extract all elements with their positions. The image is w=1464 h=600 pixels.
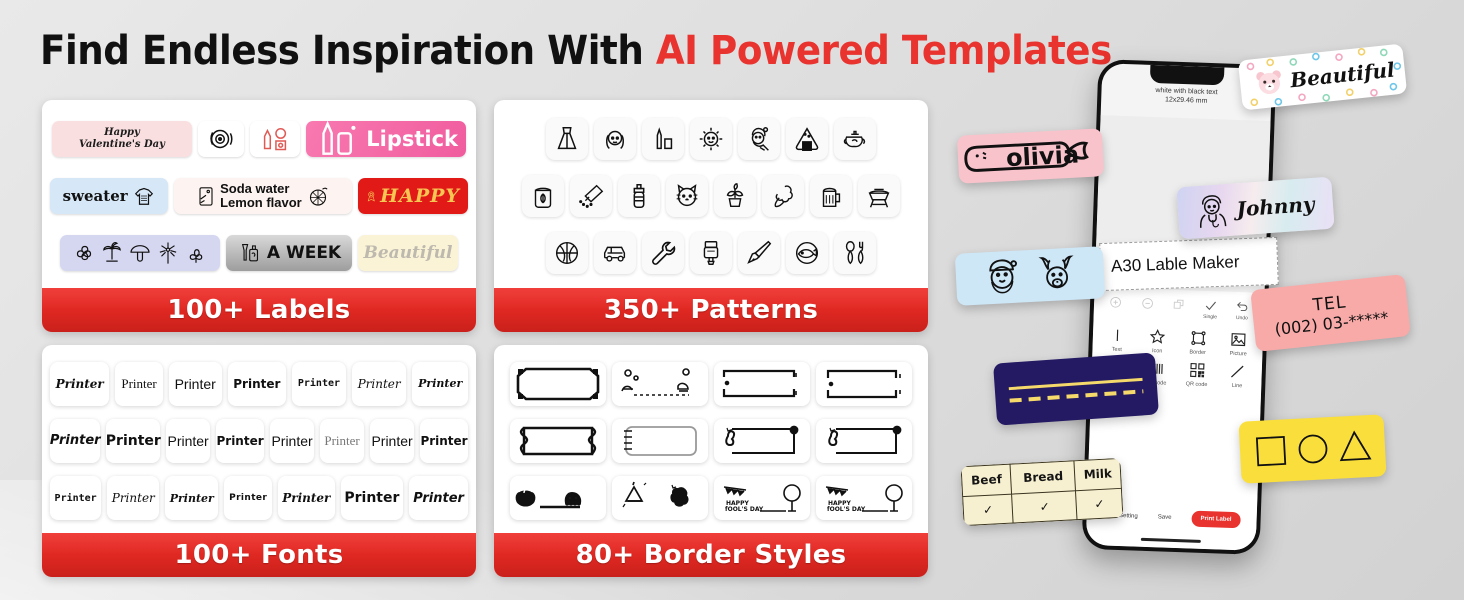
zoom-out-button[interactable]: [1140, 297, 1154, 312]
happy-label[interactable]: HAPPY: [358, 178, 468, 214]
sun-smile-icon[interactable]: [690, 118, 732, 160]
cosmetics-icon: [258, 124, 292, 154]
valentine-line1: Happy: [104, 127, 140, 139]
sticker-beautiful-text: Beautiful: [1289, 58, 1396, 93]
text-cursor-icon: [1108, 327, 1126, 345]
octagon-border[interactable]: [510, 362, 606, 406]
home-indicator: [1141, 538, 1201, 543]
clover-leaf-icon: [183, 240, 209, 266]
border-tool[interactable]: Border: [1177, 329, 1218, 356]
border-row-1: [502, 362, 920, 406]
soda-can-icon: [196, 184, 216, 208]
happy-fools-day-border[interactable]: HAPPYfOOL'S DAY: [714, 476, 810, 520]
zoom-out-icon: [1140, 297, 1153, 310]
line-tool[interactable]: Line: [1217, 362, 1258, 389]
dandelion-icon: [155, 240, 181, 266]
checklist-header-cell: Beef: [961, 464, 1012, 496]
border-row-3: HAPPYfOOL'S DAY HAPPYfOOL'S DAY: [502, 476, 920, 520]
card-borders[interactable]: HAPPYfOOL'S DAY HAPPYfOOL'S DAY 80+ Bord…: [494, 345, 928, 577]
vinyl-record-icon: [206, 124, 236, 154]
wrench-icon[interactable]: [642, 232, 684, 274]
santa-icon[interactable]: [738, 118, 780, 160]
qr-code-tool[interactable]: QR code: [1176, 361, 1217, 388]
star-icon: [1149, 328, 1167, 346]
salt-shaker-icon[interactable]: [570, 175, 612, 217]
sticker-tel[interactable]: TEL (002) 03-*****: [1250, 274, 1411, 352]
font-row-2: Printer Printer Printer Printer Printer …: [50, 419, 468, 463]
font-tile[interactable]: Printer: [106, 419, 160, 463]
sticker-navy-lines[interactable]: [993, 352, 1159, 425]
undo-icon: [1236, 300, 1249, 313]
valentine-line2: Valentine's Day: [79, 139, 165, 151]
checklist-mark-cell[interactable]: ✓: [1012, 490, 1077, 523]
rabbit-moon-border-2[interactable]: [816, 419, 912, 463]
card-labels-body: Happy Valentine's Day: [42, 100, 476, 288]
font-tile[interactable]: Printer: [409, 476, 468, 520]
sticker-christmas[interactable]: [955, 246, 1106, 306]
sweater-label[interactable]: sweater: [50, 178, 168, 214]
font-tile[interactable]: Printer: [370, 419, 414, 463]
font-tile[interactable]: Printer: [320, 419, 364, 463]
font-tile[interactable]: Printer: [50, 419, 100, 463]
lemon-icon: [306, 184, 330, 208]
valentine-label[interactable]: Happy Valentine's Day: [52, 121, 192, 157]
card-patterns[interactable]: 350+ Patterns: [494, 100, 928, 332]
border-row-2: [502, 419, 920, 463]
font-tile[interactable]: Printer: [278, 476, 335, 520]
font-row-1: Printer Printer Printer Printer Printer …: [50, 362, 468, 406]
paint-brush-icon[interactable]: [738, 232, 780, 274]
picture-tool[interactable]: Picture: [1218, 330, 1259, 357]
font-tile[interactable]: Printer: [169, 362, 222, 406]
halloween-border[interactable]: [510, 476, 606, 520]
rosette-icon: [366, 185, 377, 207]
save-button[interactable]: Save: [1158, 514, 1172, 520]
cat-face-icon[interactable]: [666, 175, 708, 217]
icon-tool[interactable]: Icon: [1137, 328, 1178, 355]
undo-button[interactable]: Undo: [1235, 300, 1249, 321]
font-tile[interactable]: Printer: [412, 362, 468, 406]
sticker-olivia-text: olivia: [1005, 140, 1079, 172]
line-tool-label: Line: [1232, 383, 1243, 389]
font-tile[interactable]: Printer: [270, 419, 314, 463]
beautiful-label[interactable]: Beautiful: [358, 235, 458, 271]
broccoli-icon[interactable]: [762, 175, 804, 217]
happy-label-text: HAPPY: [380, 185, 460, 207]
toothbrush-tube-icon: [237, 240, 261, 266]
a-week-label-text: A WEEK: [267, 243, 341, 263]
beer-mug-icon[interactable]: [810, 175, 852, 217]
card-borders-body: HAPPYfOOL'S DAY HAPPYfOOL'S DAY: [494, 345, 928, 533]
zoom-in-icon: [1109, 296, 1122, 309]
font-tile[interactable]: Printer: [50, 476, 101, 520]
lipstick-icon: [314, 121, 360, 157]
girl-face-icon[interactable]: [594, 118, 636, 160]
basketball-icon[interactable]: [546, 232, 588, 274]
card-fonts-banner: 100+ Fonts: [42, 533, 476, 577]
label-row-3: A WEEK Beautiful: [50, 235, 468, 271]
font-tile[interactable]: Printer: [166, 419, 210, 463]
picture-icon: [1230, 331, 1248, 349]
sticker-beautiful[interactable]: Beautiful: [1238, 44, 1407, 111]
party-hat-border[interactable]: [612, 476, 708, 520]
text-tool-label: Text: [1112, 347, 1122, 353]
circle-icon: [1294, 430, 1332, 468]
font-tile[interactable]: Printer: [420, 419, 468, 463]
mushroom-icon: [127, 240, 153, 266]
cosmetics-label[interactable]: [250, 121, 300, 157]
rotate-button[interactable]: [1172, 298, 1186, 313]
picture-tool-label: Picture: [1229, 351, 1246, 358]
sweater-label-text: sweater: [63, 187, 128, 205]
palm-tree-icon: [99, 240, 125, 266]
triangle-icon: [1336, 428, 1374, 466]
soda-water-label[interactable]: Soda water Lemon flavor: [174, 178, 351, 214]
font-tile[interactable]: Printer: [341, 476, 404, 520]
usb-plug-icon[interactable]: [690, 232, 732, 274]
phone-notch: [1150, 65, 1225, 86]
sticker-shapes[interactable]: [1238, 414, 1386, 484]
card-fonts[interactable]: Printer Printer Printer Printer Printer …: [42, 345, 476, 577]
square-icon: [1252, 432, 1290, 470]
print-label-button[interactable]: Print Label: [1191, 511, 1241, 529]
card-labels[interactable]: Happy Valentine's Day: [42, 100, 476, 332]
lipstick-label-text: Lipstick: [366, 127, 458, 151]
bubble-bath-border[interactable]: [612, 362, 708, 406]
bbq-grill-icon[interactable]: [858, 175, 900, 217]
soda-line2: Lemon flavor: [220, 196, 302, 210]
dashed-lines-graphic: [993, 352, 1159, 425]
a-week-label[interactable]: A WEEK: [226, 235, 352, 271]
qr-code-tool-label: QR code: [1186, 381, 1208, 388]
font-tile[interactable]: Printer: [224, 476, 272, 520]
reindeer-face-icon: [1036, 253, 1078, 297]
sticker-johnny[interactable]: Johnny: [1176, 177, 1334, 240]
tea-bag-icon[interactable]: [522, 175, 564, 217]
wavy-border[interactable]: [510, 419, 606, 463]
icon-tool-label: Icon: [1152, 348, 1163, 354]
sticker-checklist[interactable]: Beef Bread Milk ✓ ✓ ✓: [961, 458, 1124, 526]
rabbit-moon-border[interactable]: [714, 419, 810, 463]
svg-text:fOOL'S DAY: fOOL'S DAY: [725, 506, 764, 513]
check-icon: [1204, 299, 1217, 312]
spiral-notebook-border[interactable]: [612, 419, 708, 463]
four-leaf-clover-icon: [71, 240, 97, 266]
vinyl-record-label[interactable]: [198, 121, 244, 157]
sweater-icon: [132, 184, 156, 208]
card-patterns-body: [494, 100, 928, 288]
onigiri-icon[interactable]: [786, 118, 828, 160]
font-tile[interactable]: Printer: [115, 362, 162, 406]
label-text-edit-box[interactable]: A30 Lable Maker: [1099, 237, 1279, 291]
font-tile[interactable]: Printer: [352, 362, 407, 406]
lipstick-label[interactable]: Lipstick: [306, 121, 466, 157]
font-tile[interactable]: Printer: [107, 476, 159, 520]
card-labels-banner: 100+ Labels: [42, 288, 476, 332]
happy-fools-day-border-2[interactable]: HAPPYfOOL'S DAY: [816, 476, 912, 520]
fish-plate-icon[interactable]: [786, 232, 828, 274]
santa-face-icon: [982, 255, 1022, 299]
teapot-icon[interactable]: [834, 118, 876, 160]
pattern-row-1: [502, 118, 920, 160]
sticker-johnny-text: Johnny: [1236, 192, 1316, 221]
car-icon[interactable]: [594, 232, 636, 274]
sticker-olivia[interactable]: olivia: [957, 128, 1104, 184]
label-row-1: Happy Valentine's Day: [50, 121, 468, 157]
potted-plant-icon[interactable]: [714, 175, 756, 217]
border-tool-label: Border: [1189, 349, 1206, 356]
card-fonts-body: Printer Printer Printer Printer Printer …: [42, 345, 476, 533]
single-label: Single: [1203, 314, 1217, 320]
zoom-in-button[interactable]: [1109, 296, 1123, 311]
font-tile[interactable]: Printer: [165, 476, 218, 520]
label-text-value: A30 Lable Maker: [1111, 252, 1240, 276]
line-icon: [1229, 363, 1247, 381]
dress-icon[interactable]: [546, 118, 588, 160]
label-row-2: sweater Soda water Lemon flavor: [50, 178, 468, 214]
pattern-row-3: [502, 232, 920, 274]
soda-text: Soda water Lemon flavor: [220, 182, 302, 209]
qr-code-icon: [1188, 361, 1206, 379]
lipstick-icon[interactable]: [642, 118, 684, 160]
card-patterns-banner: 350+ Patterns: [494, 288, 928, 332]
font-tile[interactable]: Printer: [228, 362, 286, 406]
phone-scene: white with black text 12x29.46 mm: [940, 0, 1464, 600]
font-tile[interactable]: Printer: [50, 362, 109, 406]
checklist-header-cell: Bread: [1010, 461, 1075, 494]
baby-bottle-icon[interactable]: [618, 175, 660, 217]
undo-label: Undo: [1236, 315, 1248, 321]
font-tile[interactable]: Printer: [216, 419, 264, 463]
card-borders-banner: 80+ Border Styles: [494, 533, 928, 577]
bear-face-icon: [1253, 66, 1286, 99]
checklist-header-cell: Milk: [1074, 458, 1121, 490]
soda-line1: Soda water: [220, 182, 302, 196]
headline-lead: Find Endless Inspiration With: [40, 28, 656, 74]
rotate-icon: [1172, 298, 1185, 311]
clover-label[interactable]: [60, 235, 220, 271]
font-tile[interactable]: Printer: [292, 362, 346, 406]
border-icon: [1189, 329, 1207, 347]
bracket-corner-border-2[interactable]: [816, 362, 912, 406]
svg-text:fOOL'S DAY: fOOL'S DAY: [827, 506, 866, 513]
checklist-table: Beef Bread Milk ✓ ✓ ✓: [961, 458, 1124, 526]
font-row-3: Printer Printer Printer Printer Printer …: [50, 476, 468, 520]
checklist-mark-cell[interactable]: ✓: [963, 494, 1014, 526]
beautiful-label-text: Beautiful: [364, 243, 453, 263]
checklist-mark-cell[interactable]: ✓: [1076, 488, 1123, 520]
single-button[interactable]: Single: [1203, 299, 1218, 320]
pattern-row-2: [502, 175, 920, 217]
spoon-fork-icon[interactable]: [834, 232, 876, 274]
bracket-corner-border[interactable]: [714, 362, 810, 406]
text-tool[interactable]: Text: [1096, 326, 1137, 353]
doctor-icon: [1195, 192, 1229, 230]
